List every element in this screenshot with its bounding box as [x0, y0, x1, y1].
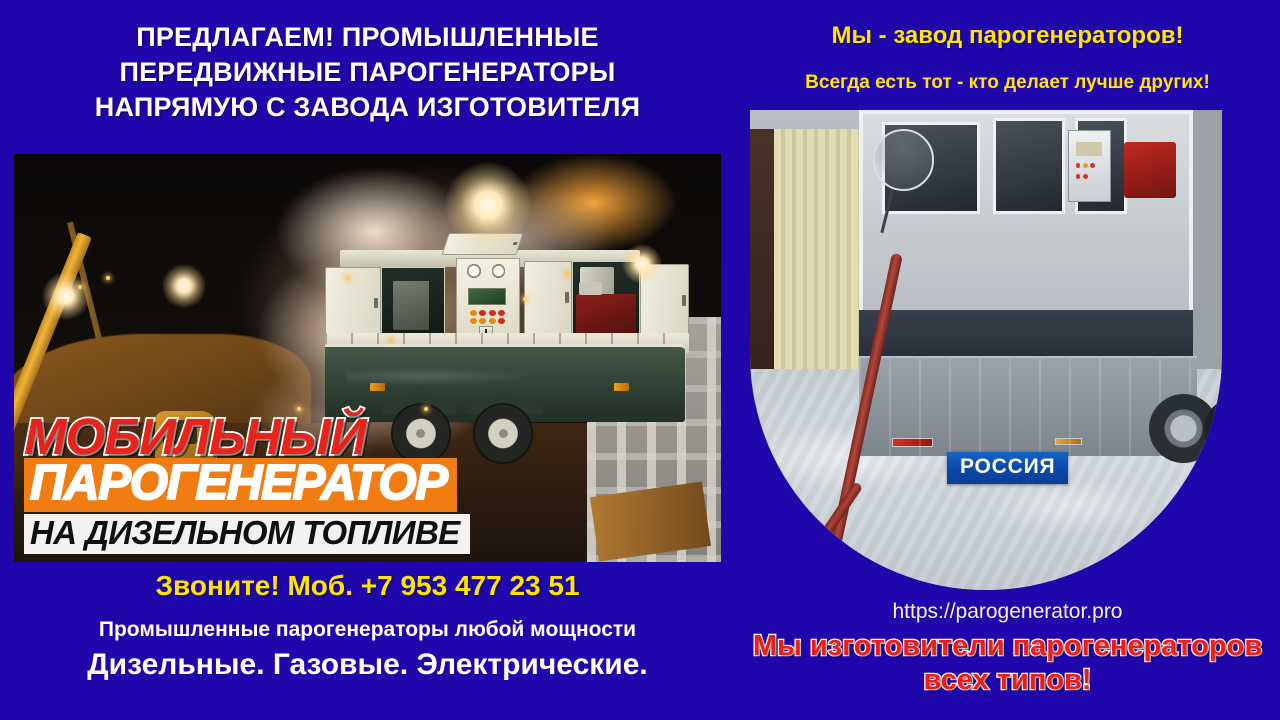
indicator-row-2 [470, 318, 506, 324]
status-badge: РОССИЯ [947, 452, 1068, 484]
spark [523, 297, 527, 301]
tail-light [892, 438, 933, 447]
right-panel: Мы - завод парогенераторов! Всегда есть … [735, 0, 1280, 720]
pressure-gauge-2 [492, 264, 506, 278]
overlay-line-diesel-fuel: НА ДИЗЕЛЬНОМ ТОПЛИВЕ [24, 514, 470, 554]
photo-text-overlay: МОБИЛЬНЫЙ ПАРОГЕНЕРАТОР НА ДИЗЕЛЬНОМ ТОП… [24, 413, 494, 554]
spark [389, 338, 393, 342]
indicator-lamp [1076, 163, 1081, 168]
spark [78, 285, 82, 289]
indicator-lamp [479, 318, 486, 324]
work-light-flare [622, 244, 662, 284]
website-url[interactable]: https://parogenerator.pro [735, 600, 1280, 624]
panel-display [1076, 142, 1103, 156]
indicator-lamp [470, 310, 477, 316]
manufacturer-claim-line-2: всех типов! [735, 664, 1280, 698]
indicator-row-1 [470, 310, 506, 316]
indicator-lamp [1083, 174, 1088, 179]
capacity-note: Промышленные парогенераторы любой мощнос… [10, 618, 725, 642]
control-panel [456, 258, 520, 344]
marker-light-rear [614, 383, 629, 391]
work-light-flare [445, 162, 531, 248]
page-title: ПРЕДЛАГАЕМ! ПРОМЫШЛЕННЫЕ ПЕРЕДВИЖНЫЕ ПАР… [10, 20, 725, 125]
phone-number-line[interactable]: Звоните! Моб. +7 953 477 23 51 [10, 570, 725, 602]
panel-display [468, 288, 506, 305]
headline-line-3: НАПРЯМУЮ С ЗАВОДА ИЗГОТОВИТЕЛЯ [10, 90, 725, 125]
enclosure-window-2 [993, 118, 1065, 214]
winter-trailer-photo [750, 110, 1222, 590]
left-panel: ПРЕДЛАГАЕМ! ПРОМЫШЛЕННЫЕ ПЕРЕДВИЖНЫЕ ПАР… [0, 0, 735, 720]
indicator-lamp [498, 318, 505, 324]
factory-title: Мы - завод парогенераторов! [735, 22, 1280, 50]
indicator-lamp [498, 310, 505, 316]
control-panel-winter [1068, 130, 1110, 202]
spark [424, 407, 428, 411]
mirror-icon [873, 129, 934, 190]
indicator-lamp [1076, 174, 1081, 179]
manufacturer-claim-line-1: Мы изготовители парогенераторов [735, 630, 1280, 664]
indicator-lamp [489, 318, 496, 324]
indicator-lamp [1083, 163, 1088, 168]
pressure-gauge-1 [467, 264, 481, 278]
indicator-lamp [470, 318, 477, 324]
marker-light [1055, 438, 1082, 445]
headline-line-1: ПРЕДЛАГАЕМ! ПРОМЫШЛЕННЫЕ [10, 20, 725, 55]
manufacturer-claim: Мы изготовители парогенераторов всех тип… [735, 630, 1280, 697]
marker-light-front [370, 383, 385, 391]
generator-unit [1124, 142, 1176, 198]
trailer-lower-body [859, 356, 1197, 456]
headline-line-2: ПЕРЕДВИЖНЫЕ ПАРОГЕНЕРАТОРЫ [10, 55, 725, 90]
indicator-lamp [479, 310, 486, 316]
mobile-steam-generator-photo: МОБИЛЬНЫЙ ПАРОГЕНЕРАТОР НА ДИЗЕЛЬНОМ ТОП… [14, 154, 721, 562]
fuel-types-line: Дизельные. Газовые. Электрические. [10, 648, 725, 682]
indicator-lamp [489, 310, 496, 316]
diesel-engine [576, 294, 636, 338]
overlay-line-parogenerator: ПАРОГЕНЕРАТОР [24, 458, 457, 512]
factory-subtitle: Всегда есть тот - кто делает лучше други… [735, 72, 1280, 94]
overlay-line-mobile: МОБИЛЬНЫЙ [24, 413, 494, 462]
indicator-lamp [1090, 163, 1095, 168]
